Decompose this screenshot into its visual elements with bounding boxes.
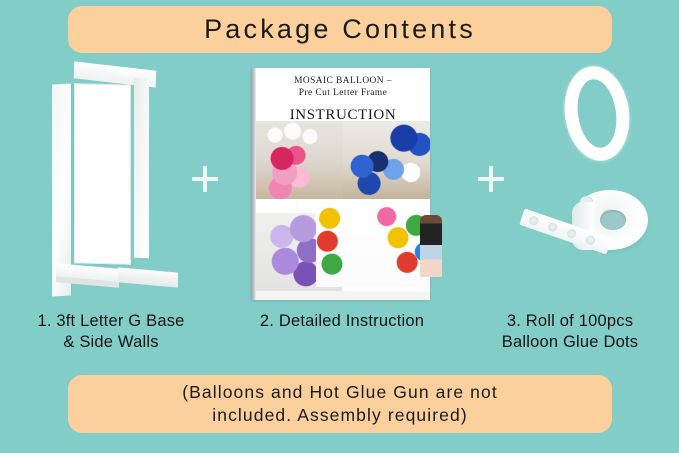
booklet-photo-blue-balloon-letters: [343, 121, 430, 199]
caption-item-1: 1. 3ft Letter G Base & Side Walls: [2, 311, 220, 353]
glue-dot: [566, 228, 577, 239]
package-contents-infographic: Package Contents MOSAIC BALLOON – Pre Cu…: [0, 0, 679, 453]
caption-item-1-line-2: & Side Walls: [2, 332, 220, 353]
caption-item-3: 3. Roll of 100pcs Balloon Glue Dots: [462, 311, 678, 353]
title-banner: Package Contents: [68, 6, 612, 53]
footer-banner: (Balloons and Hot Glue Gun are not inclu…: [68, 375, 612, 433]
plus-icon: [192, 166, 218, 192]
caption-item-2: 2. Detailed Instruction: [232, 311, 452, 332]
frame-right-wall-panel: [134, 78, 149, 259]
booklet-photo-pink-balloon-number: [256, 121, 343, 199]
plus-icon: [478, 166, 504, 192]
booklet-photo-rainbow-letters: [316, 199, 430, 287]
glue-dot: [547, 221, 558, 232]
footer-note-line-2: included. Assembly required): [182, 404, 498, 427]
frame-front-panel: [74, 83, 131, 264]
caption-item-3-line-2: Balloon Glue Dots: [462, 332, 678, 353]
booklet-heading-line-1: MOSAIC BALLOON –: [262, 76, 424, 88]
caption-item-2-line-1: 2. Detailed Instruction: [232, 311, 452, 332]
item-glue-dots-image: [510, 60, 679, 310]
item-instruction-booklet-image: MOSAIC BALLOON – Pre Cut Letter Frame IN…: [251, 68, 430, 300]
booklet-photo-row-bottom: [256, 199, 430, 291]
booklet-heading-line-2: Pre Cut Letter Frame: [262, 88, 424, 100]
footer-note-line-1: (Balloons and Hot Glue Gun are not: [182, 381, 498, 404]
caption-item-1-line-1: 1. 3ft Letter G Base: [2, 311, 220, 332]
glue-dots-ring-roll: [559, 62, 636, 165]
item-letter-g-frame-image: [20, 60, 200, 310]
booklet-photo-child-figure: [420, 215, 442, 277]
glue-dot: [528, 215, 539, 226]
page-title: Package Contents: [204, 16, 476, 43]
caption-item-3-line-1: 3. Roll of 100pcs: [462, 311, 678, 332]
booklet-bottom-margin: [256, 291, 430, 300]
frame-base-panel-right: [118, 267, 178, 287]
glue-dot: [585, 234, 596, 245]
footer-note: (Balloons and Hot Glue Gun are not inclu…: [182, 381, 498, 427]
booklet-photo-row-top: [256, 121, 430, 199]
glue-dots-roll-hole: [600, 210, 626, 230]
